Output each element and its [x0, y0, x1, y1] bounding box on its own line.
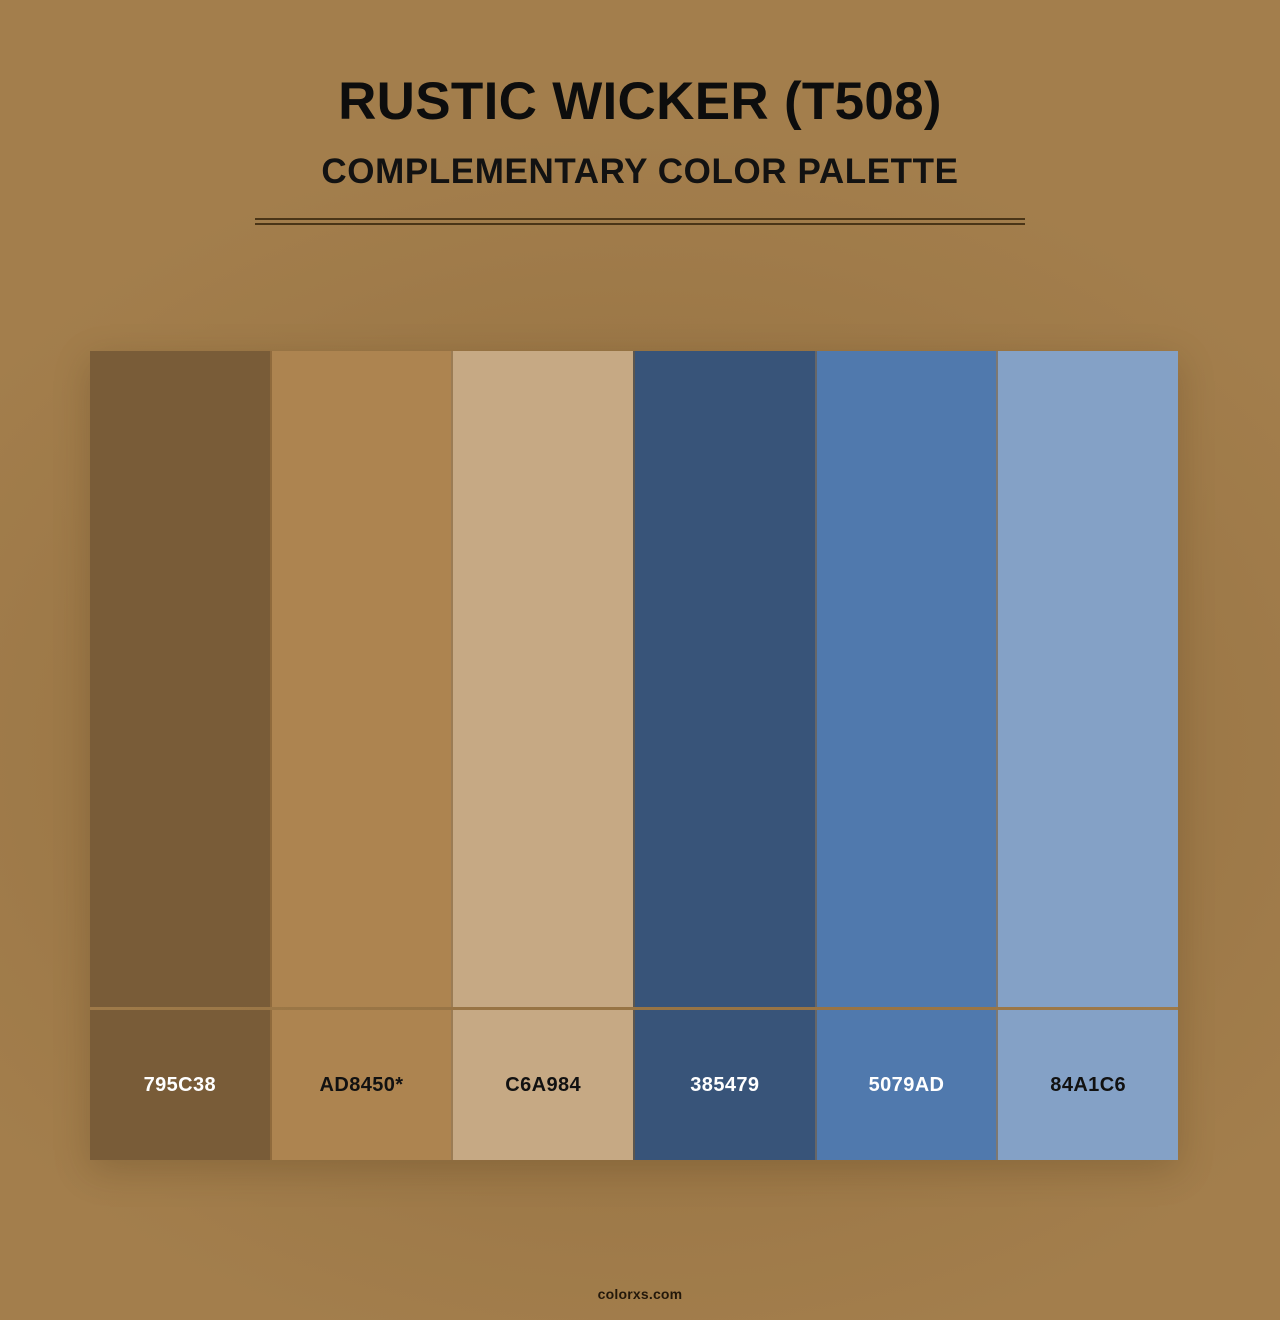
- color-label-cell[interactable]: C6A984: [451, 1010, 633, 1160]
- color-swatch[interactable]: [270, 351, 452, 1007]
- color-swatch[interactable]: [633, 351, 815, 1007]
- page-title: RUSTIC WICKER (T508): [0, 72, 1280, 131]
- footer: colorxs.com: [0, 1286, 1280, 1304]
- hex-code-label: AD8450*: [320, 1075, 404, 1095]
- divider-line-top: [255, 218, 1025, 220]
- site-credit: colorxs.com: [598, 1286, 683, 1302]
- color-swatch[interactable]: [815, 351, 997, 1007]
- palette-page: RUSTIC WICKER (T508) COMPLEMENTARY COLOR…: [0, 0, 1280, 1320]
- color-label-cell[interactable]: 795C38: [90, 1010, 270, 1160]
- hex-code-label: 795C38: [144, 1075, 216, 1095]
- header: RUSTIC WICKER (T508) COMPLEMENTARY COLOR…: [0, 0, 1280, 225]
- swatch-row: [90, 351, 1178, 1007]
- hex-code-label: 5079AD: [869, 1075, 945, 1095]
- color-label-cell[interactable]: 84A1C6: [996, 1010, 1178, 1160]
- label-row: 795C38 AD8450* C6A984 385479 5079AD 84A1…: [90, 1010, 1178, 1160]
- color-label-cell[interactable]: 5079AD: [815, 1010, 997, 1160]
- hex-code-label: 84A1C6: [1050, 1075, 1126, 1095]
- page-subtitle: COMPLEMENTARY COLOR PALETTE: [0, 153, 1280, 192]
- color-label-cell[interactable]: AD8450*: [270, 1010, 452, 1160]
- color-swatch[interactable]: [90, 351, 270, 1007]
- hex-code-label: 385479: [690, 1075, 759, 1095]
- color-palette: 795C38 AD8450* C6A984 385479 5079AD 84A1…: [90, 351, 1178, 1160]
- color-swatch[interactable]: [996, 351, 1178, 1007]
- color-swatch[interactable]: [451, 351, 633, 1007]
- color-label-cell[interactable]: 385479: [633, 1010, 815, 1160]
- header-divider: [255, 218, 1025, 225]
- divider-line-bottom: [255, 223, 1025, 225]
- hex-code-label: C6A984: [505, 1075, 581, 1095]
